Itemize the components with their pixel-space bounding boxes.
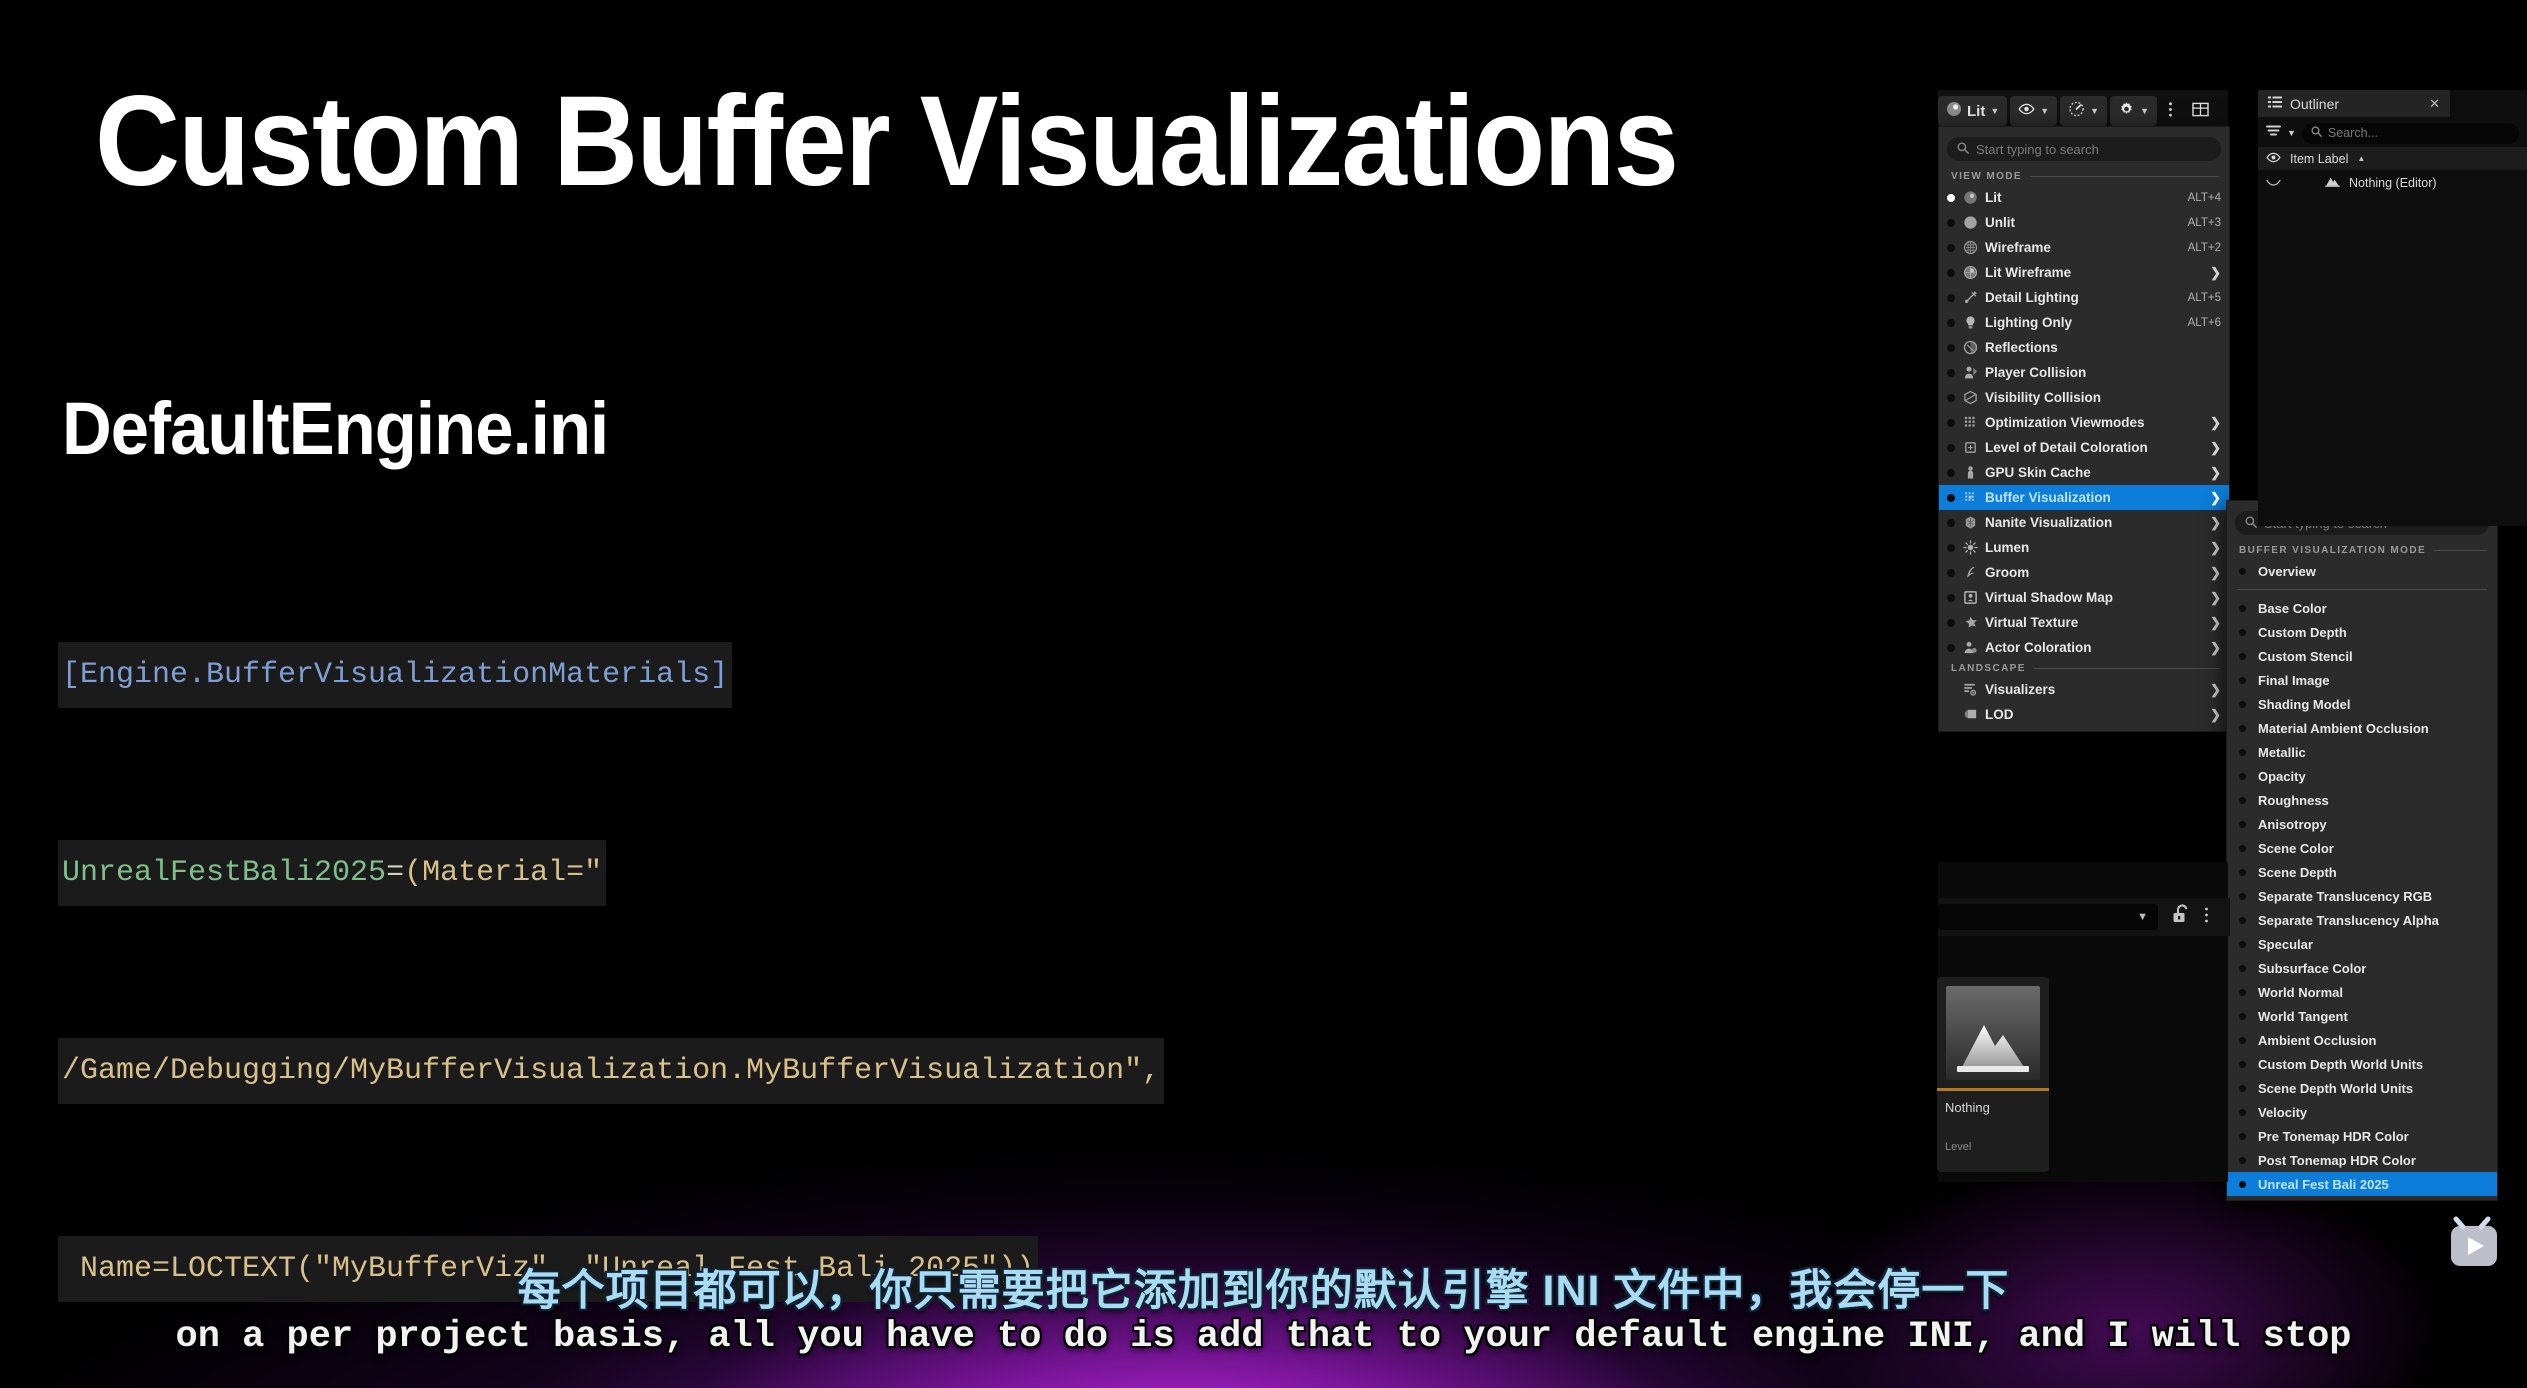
buffer-item-world-normal[interactable]: World Normal	[2227, 980, 2497, 1004]
menu-item-shortcut: ALT+4	[2188, 192, 2221, 204]
landscape-item-list: Visualizers❯LOD❯	[1939, 677, 2229, 727]
subtitle-english: on a per project basis, all you have to …	[0, 1316, 2527, 1358]
menu-item-shortcut: ALT+3	[2188, 217, 2221, 229]
view-mode-search-wrap: Start typing to search	[1939, 133, 2229, 168]
asset-name: Nothing	[1937, 1091, 2049, 1115]
view-mode-item-detail-lighting[interactable]: Detail LightingALT+5	[1939, 285, 2229, 310]
settings-button[interactable]: ▼	[2110, 96, 2157, 126]
code-line-1: [Engine.BufferVisualizationMaterials]	[58, 642, 732, 708]
nanite-icon	[1962, 515, 1978, 531]
buffer-item-specular[interactable]: Specular	[2227, 932, 2497, 956]
menu-item-label: Unlit	[1985, 215, 2174, 230]
buffer-item-pre-tonemap-hdr-color[interactable]: Pre Tonemap HDR Color	[2227, 1124, 2497, 1148]
radio-icon	[2239, 1085, 2246, 1092]
player-collision-icon	[1962, 365, 1978, 381]
kebab-menu-icon[interactable]	[2204, 906, 2209, 929]
chevron-right-icon: ❯	[2210, 682, 2221, 698]
chevron-right-icon: ❯	[2210, 440, 2221, 456]
radio-icon	[2239, 605, 2246, 612]
radio-icon	[2239, 989, 2246, 996]
chevron-right-icon: ❯	[2210, 515, 2221, 531]
lit-wireframe-icon	[1962, 265, 1978, 281]
page-title: Custom Buffer Visualizations	[95, 78, 1677, 206]
gpu-skin-cache-icon	[1962, 465, 1978, 481]
view-mode-search-placeholder: Start typing to search	[1976, 142, 2099, 157]
buffer-item-label: Pre Tonemap HDR Color	[2258, 1129, 2489, 1144]
buffer-item-overview[interactable]: Overview	[2227, 559, 2497, 583]
radio-icon	[2239, 1133, 2246, 1140]
buffer-item-separate-translucency-alpha[interactable]: Separate Translucency Alpha	[2227, 908, 2497, 932]
view-mode-item-reflections[interactable]: Reflections	[1939, 335, 2229, 360]
buffer-item-label: Custom Depth	[2258, 625, 2489, 640]
buffer-item-label: Separate Translucency RGB	[2258, 889, 2489, 904]
gear-icon	[2118, 101, 2135, 122]
eye-closed-icon[interactable]	[2266, 176, 2281, 190]
radio-icon	[2239, 917, 2246, 924]
kebab-menu-icon	[2168, 101, 2173, 122]
unlit-sphere-icon	[1962, 215, 1978, 231]
close-icon[interactable]: ✕	[2429, 96, 2440, 112]
view-mode-item-optimization-viewmodes[interactable]: Optimization Viewmodes❯	[1939, 410, 2229, 435]
chevron-right-icon: ❯	[2210, 490, 2221, 506]
lumen-icon	[1962, 540, 1978, 556]
view-mode-menu: Start typing to search VIEW MODE LitALT+…	[1938, 126, 2230, 732]
search-icon	[1957, 142, 1969, 157]
chevron-right-icon: ❯	[2210, 415, 2221, 431]
buffer-item-label: World Normal	[2258, 985, 2489, 1000]
radio-icon	[1947, 544, 1955, 552]
buffer-item-custom-depth[interactable]: Custom Depth	[2227, 620, 2497, 644]
outliner-icon	[2268, 96, 2282, 112]
section-rule	[2034, 668, 2219, 669]
view-mode-button[interactable]: Lit ▼	[1938, 96, 2007, 126]
file-heading: DefaultEngine.ini	[62, 392, 608, 466]
virtual-texture-icon	[1962, 615, 1978, 631]
radio-icon	[2239, 653, 2246, 660]
view-mode-item-visibility-collision[interactable]: Visibility Collision	[1939, 385, 2229, 410]
buffer-item-label: Roughness	[2258, 793, 2489, 808]
buffer-item-label: World Tangent	[2258, 1009, 2489, 1024]
outliner-row-label: Nothing (Editor)	[2349, 176, 2437, 190]
show-flags-button[interactable]: ▼	[2010, 96, 2057, 126]
radio-icon	[2239, 773, 2246, 780]
outliner-row[interactable]: Nothing (Editor)	[2258, 170, 2527, 195]
buffer-item-label: Overview	[2258, 564, 2489, 579]
view-mode-item-groom[interactable]: Groom❯	[1939, 560, 2229, 585]
lit-sphere-icon	[1962, 190, 1978, 206]
filter-icon[interactable]	[2266, 125, 2281, 141]
menu-item-label: Detail Lighting	[1985, 290, 2174, 305]
chevron-right-icon: ❯	[2210, 707, 2221, 723]
menu-item-label: GPU Skin Cache	[1985, 465, 2200, 480]
menu-item-shortcut: ALT+5	[2188, 292, 2221, 304]
menu-divider	[2237, 589, 2487, 590]
menu-item-label: Visibility Collision	[1985, 390, 2221, 405]
menu-item-label: Virtual Texture	[1985, 615, 2200, 630]
buffer-section-header: BUFFER VISUALIZATION MODE	[2227, 542, 2497, 559]
radio-icon	[1947, 369, 1955, 377]
outliner-search-placeholder: Search...	[2328, 126, 2378, 140]
buffer-item-opacity[interactable]: Opacity	[2227, 764, 2497, 788]
buffer-item-shading-model[interactable]: Shading Model	[2227, 692, 2497, 716]
menu-item-label: Player Collision	[1985, 365, 2221, 380]
radio-icon	[1947, 444, 1955, 452]
level-icon	[1956, 1017, 2030, 1080]
visualizers-icon	[1962, 682, 1978, 698]
groom-icon	[1962, 565, 1978, 581]
buffer-item-label: Separate Translucency Alpha	[2258, 913, 2489, 928]
content-browser-toolbar: ▼	[1938, 898, 2230, 936]
radio-icon	[2239, 725, 2246, 732]
chevron-right-icon: ❯	[2210, 265, 2221, 281]
menu-item-label: Virtual Shadow Map	[1985, 590, 2200, 605]
visibility-collision-icon	[1962, 390, 1978, 406]
menu-item-label: Lit	[1985, 190, 2174, 205]
chevron-right-icon: ❯	[2210, 465, 2221, 481]
view-mode-item-lighting-only[interactable]: Lighting OnlyALT+6	[1939, 310, 2229, 335]
menu-item-label: Buffer Visualization	[1985, 490, 2200, 505]
asset-thumbnail	[1946, 986, 2040, 1080]
buffer-item-label: Subsurface Color	[2258, 961, 2489, 976]
view-mode-item-lit[interactable]: LitALT+4	[1939, 185, 2229, 210]
chevron-down-icon[interactable]: ▼	[2287, 128, 2296, 138]
buffer-item-ambient-occlusion[interactable]: Ambient Occlusion	[2227, 1028, 2497, 1052]
buffer-item-scene-depth-world-units[interactable]: Scene Depth World Units	[2227, 1076, 2497, 1100]
view-mode-item-lumen[interactable]: Lumen❯	[1939, 535, 2229, 560]
radio-icon	[2239, 845, 2246, 852]
radio-icon	[2239, 701, 2246, 708]
outliner-toolbar: ▼ Search...	[2258, 117, 2527, 147]
buffer-item-label: Opacity	[2258, 769, 2489, 784]
buffer-item-subsurface-color[interactable]: Subsurface Color	[2227, 956, 2497, 980]
chevron-down-icon: ▼	[2137, 911, 2148, 923]
chevron-right-icon: ❯	[2210, 590, 2221, 606]
menu-item-shortcut: ALT+6	[2188, 317, 2221, 329]
chevron-down-icon: ▼	[2040, 106, 2049, 116]
radio-icon	[1947, 344, 1955, 352]
view-mode-item-buffer-visualization[interactable]: Buffer Visualization❯	[1939, 485, 2229, 510]
buffer-item-label: Metallic	[2258, 745, 2489, 760]
buffer-item-scene-depth[interactable]: Scene Depth	[2227, 860, 2497, 884]
radio-icon	[2239, 893, 2246, 900]
view-mode-item-nanite-visualization[interactable]: Nanite Visualization❯	[1939, 510, 2229, 535]
kebab-menu-button[interactable]	[2160, 96, 2181, 126]
reflections-icon	[1962, 340, 1978, 356]
buffer-item-metallic[interactable]: Metallic	[2227, 740, 2497, 764]
chevron-right-icon: ❯	[2210, 540, 2221, 556]
radio-icon	[2239, 1181, 2246, 1188]
code-material-token: (Material="	[404, 856, 602, 890]
buffer-item-base-color[interactable]: Base Color	[2227, 596, 2497, 620]
radio-icon	[2239, 821, 2246, 828]
asset-type: Level	[1937, 1115, 2049, 1153]
radio-icon	[1947, 194, 1955, 202]
detail-lighting-icon	[1962, 290, 1978, 306]
buffer-item-unreal-fest-bali-2025[interactable]: Unreal Fest Bali 2025	[2227, 1172, 2497, 1196]
view-mode-section-header: VIEW MODE	[1939, 168, 2229, 185]
view-mode-item-list: LitALT+4UnlitALT+3WireframeALT+2Lit Wire…	[1939, 185, 2229, 660]
lod-coloration-icon	[1962, 440, 1978, 456]
menu-item-label: LOD	[1985, 707, 2200, 722]
lit-sphere-icon	[1946, 101, 1962, 121]
menu-item-shortcut: ALT+2	[2188, 242, 2221, 254]
lock-open-icon[interactable]	[2172, 904, 2192, 931]
outliner-panel: Outliner ✕ ▼ Search... Item Label ▲ Noth…	[2258, 90, 2527, 526]
radio-icon	[1947, 619, 1955, 627]
radio-icon	[2239, 629, 2246, 636]
radio-icon	[1947, 519, 1955, 527]
view-mode-section-label: VIEW MODE	[1951, 171, 2022, 182]
chevron-right-icon: ❯	[2210, 615, 2221, 631]
landscape-section-header: LANDSCAPE	[1939, 660, 2229, 677]
radio-icon	[1947, 394, 1955, 402]
menu-item-label: Lit Wireframe	[1985, 265, 2200, 280]
eye-icon[interactable]	[2266, 152, 2281, 166]
buffer-item-label: Base Color	[2258, 601, 2489, 616]
view-mode-item-visualizers[interactable]: Visualizers❯	[1939, 677, 2229, 702]
code-equals-token: =	[386, 856, 404, 890]
radio-icon	[1947, 569, 1955, 577]
search-icon	[2245, 516, 2257, 531]
radio-icon	[2239, 1061, 2246, 1068]
radio-icon	[2239, 568, 2246, 575]
view-mode-item-level-of-detail-coloration[interactable]: Level of Detail Coloration❯	[1939, 435, 2229, 460]
performance-icon	[2068, 101, 2085, 121]
buffer-item-label: Shading Model	[2258, 697, 2489, 712]
buffer-item-label: Custom Stencil	[2258, 649, 2489, 664]
radio-icon	[2239, 1013, 2246, 1020]
chevron-down-icon: ▼	[2140, 106, 2149, 116]
radio-icon	[2239, 749, 2246, 756]
radio-icon	[1947, 269, 1955, 277]
performance-button[interactable]: ▼	[2060, 96, 2107, 126]
radio-icon	[2239, 1037, 2246, 1044]
outliner-column-header[interactable]: Item Label ▲	[2258, 147, 2527, 170]
buffer-item-label: Unreal Fest Bali 2025	[2258, 1177, 2489, 1192]
code-key-token: UnrealFestBali2025	[62, 856, 386, 890]
radio-icon	[1947, 644, 1955, 652]
level-icon	[2325, 175, 2340, 190]
buffer-item-anisotropy[interactable]: Anisotropy	[2227, 812, 2497, 836]
view-mode-search-input[interactable]: Start typing to search	[1947, 137, 2221, 161]
view-mode-item-lod[interactable]: LOD❯	[1939, 702, 2229, 727]
menu-item-label: Reflections	[1985, 340, 2221, 355]
menu-item-label: Actor Coloration	[1985, 640, 2200, 655]
buffer-item-custom-stencil[interactable]: Custom Stencil	[2227, 644, 2497, 668]
buffer-item-scene-color[interactable]: Scene Color	[2227, 836, 2497, 860]
chevron-right-icon: ❯	[2210, 565, 2221, 581]
buffer-item-label: Material Ambient Occlusion	[2258, 721, 2489, 736]
actor-coloration-icon	[1962, 640, 1978, 656]
wireframe-icon	[1962, 240, 1978, 256]
buffer-item-material-ambient-occlusion[interactable]: Material Ambient Occlusion	[2227, 716, 2497, 740]
section-rule	[2434, 550, 2487, 551]
buffer-visualization-icon	[1962, 490, 1978, 506]
radio-icon	[1947, 319, 1955, 327]
view-mode-item-virtual-shadow-map[interactable]: Virtual Shadow Map❯	[1939, 585, 2229, 610]
buffer-item-custom-depth-world-units[interactable]: Custom Depth World Units	[2227, 1052, 2497, 1076]
outliner-tab[interactable]: Outliner ✕	[2258, 90, 2450, 117]
view-mode-item-player-collision[interactable]: Player Collision	[1939, 360, 2229, 385]
code-section-token: [Engine.BufferVisualizationMaterials]	[62, 658, 728, 692]
buffer-item-label: Scene Depth World Units	[2258, 1081, 2489, 1096]
outliner-tab-title: Outliner	[2290, 96, 2339, 112]
radio-icon	[1947, 594, 1955, 602]
lightbulb-icon	[1962, 315, 1978, 331]
view-mode-item-wireframe[interactable]: WireframeALT+2	[1939, 235, 2229, 260]
outliner-column-label: Item Label	[2290, 152, 2348, 166]
menu-item-label: Lighting Only	[1985, 315, 2174, 330]
sort-asc-icon: ▲	[2357, 154, 2365, 163]
buffer-item-roughness[interactable]: Roughness	[2227, 788, 2497, 812]
radio-icon	[1947, 494, 1955, 502]
menu-item-label: Groom	[1985, 565, 2200, 580]
code-line-3: /Game/Debugging/MyBufferVisualization.My…	[58, 1038, 1164, 1104]
buffer-item-final-image[interactable]: Final Image	[2227, 668, 2497, 692]
buffer-item-label: Specular	[2258, 937, 2489, 952]
view-mode-item-virtual-texture[interactable]: Virtual Texture❯	[1939, 610, 2229, 635]
asset-tile[interactable]: Nothing Level	[1937, 977, 2049, 1172]
view-mode-item-lit-wireframe[interactable]: Lit Wireframe❯	[1939, 260, 2229, 285]
view-mode-item-actor-coloration[interactable]: Actor Coloration❯	[1939, 635, 2229, 660]
optimization-icon	[1962, 415, 1978, 431]
radio-icon	[2239, 1157, 2246, 1164]
content-browser-combo[interactable]: ▼	[1938, 904, 2158, 930]
code-path-token: /Game/Debugging/MyBufferVisualization.My…	[62, 1054, 1160, 1088]
buffer-item-label: Post Tonemap HDR Color	[2258, 1153, 2489, 1168]
lod-icon	[1962, 707, 1978, 723]
menu-item-label: Optimization Viewmodes	[1985, 415, 2200, 430]
buffer-item-label: Scene Color	[2258, 841, 2489, 856]
radio-icon	[2239, 797, 2246, 804]
buffer-item-label: Ambient Occlusion	[2258, 1033, 2489, 1048]
search-icon	[2311, 126, 2322, 140]
menu-item-label: Level of Detail Coloration	[1985, 440, 2200, 455]
section-rule	[2030, 176, 2219, 177]
radio-icon	[1947, 219, 1955, 227]
radio-icon	[1947, 469, 1955, 477]
menu-item-label: Visualizers	[1985, 682, 2200, 697]
outliner-search-input[interactable]: Search...	[2302, 123, 2519, 144]
layouts-button[interactable]	[2184, 96, 2217, 126]
radio-icon	[2239, 941, 2246, 948]
view-mode-label: Lit	[1967, 103, 1985, 120]
view-mode-item-unlit[interactable]: UnlitALT+3	[1939, 210, 2229, 235]
chevron-right-icon: ❯	[2210, 640, 2221, 656]
code-line-2: UnrealFestBali2025=(Material="	[58, 840, 606, 906]
code-block: [Engine.BufferVisualizationMaterials] Un…	[58, 510, 1164, 1368]
subtitle-chinese: 每个项目都可以，你只需要把它添加到你的默认引擎 INI 文件中，我会停一下	[0, 1256, 2527, 1318]
virtual-shadow-map-icon	[1962, 590, 1978, 606]
buffer-visualization-menu: Start typing to search BUFFER VISUALIZAT…	[2226, 500, 2498, 1201]
radio-icon	[1947, 244, 1955, 252]
buffer-item-separate-translucency-rgb[interactable]: Separate Translucency RGB	[2227, 884, 2497, 908]
view-mode-item-gpu-skin-cache[interactable]: GPU Skin Cache❯	[1939, 460, 2229, 485]
menu-item-label: Lumen	[1985, 540, 2200, 555]
eye-icon	[2018, 102, 2035, 120]
chevron-down-icon: ▼	[1990, 106, 1999, 116]
radio-icon	[1947, 294, 1955, 302]
buffer-item-list: Base ColorCustom DepthCustom StencilFina…	[2227, 596, 2497, 1196]
layouts-icon	[2192, 102, 2209, 121]
buffer-item-label: Velocity	[2258, 1105, 2489, 1120]
radio-icon	[2239, 1109, 2246, 1116]
radio-icon	[1947, 419, 1955, 427]
chevron-down-icon: ▼	[2090, 106, 2099, 116]
menu-item-label: Nanite Visualization	[1985, 515, 2200, 530]
buffer-item-world-tangent[interactable]: World Tangent	[2227, 1004, 2497, 1028]
buffer-item-label: Final Image	[2258, 673, 2489, 688]
radio-icon	[2239, 869, 2246, 876]
buffer-item-label: Anisotropy	[2258, 817, 2489, 832]
radio-icon	[2239, 677, 2246, 684]
radio-icon	[2239, 965, 2246, 972]
buffer-item-label: Custom Depth World Units	[2258, 1057, 2489, 1072]
buffer-item-velocity[interactable]: Velocity	[2227, 1100, 2497, 1124]
buffer-section-label: BUFFER VISUALIZATION MODE	[2239, 545, 2426, 556]
buffer-item-label: Scene Depth	[2258, 865, 2489, 880]
viewport-toolbar: Lit ▼ ▼ ▼ ▼	[1938, 92, 2217, 130]
landscape-section-label: LANDSCAPE	[1951, 663, 2026, 674]
buffer-item-post-tonemap-hdr-color[interactable]: Post Tonemap HDR Color	[2227, 1148, 2497, 1172]
menu-item-label: Wireframe	[1985, 240, 2174, 255]
